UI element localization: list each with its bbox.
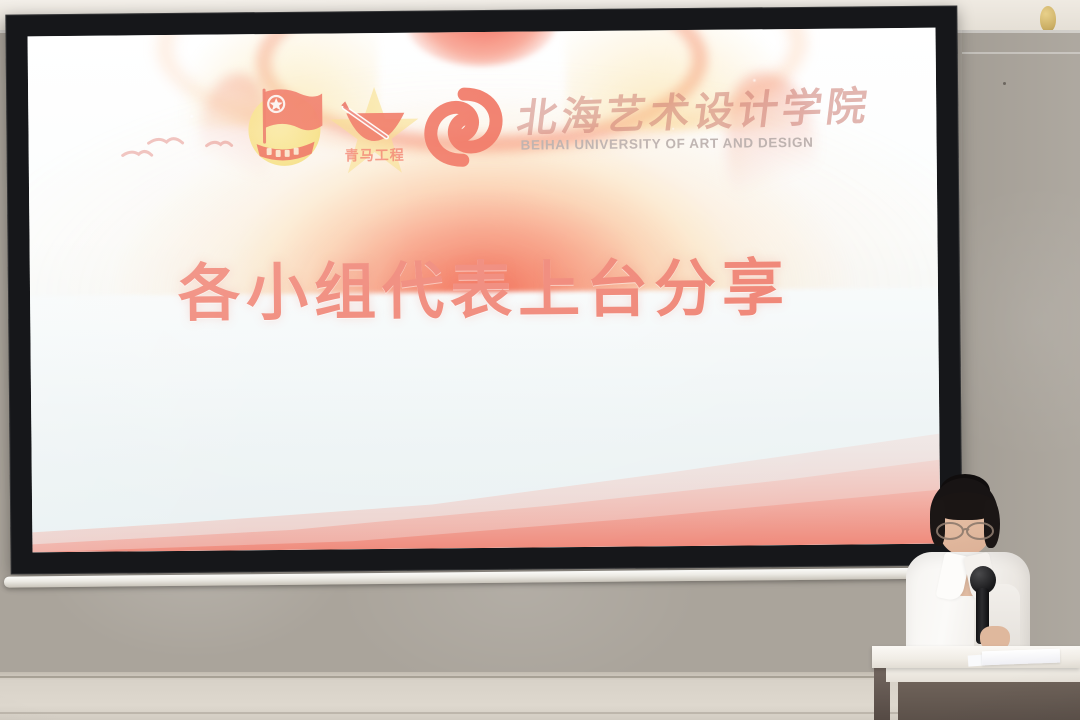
projector-screen-frame: 青马工程 北海艺术设计学院 BEIHAI UNIVERSITY OF ART A… [5, 5, 962, 574]
slide-title: 各小组代表上台分享 [30, 236, 939, 335]
photo-scene: 青马工程 北海艺术设计学院 BEIHAI UNIVERSITY OF ART A… [0, 0, 1080, 720]
university-name-block: 北海艺术设计学院 BEIHAI UNIVERSITY OF ART AND DE… [518, 78, 859, 173]
presentation-slide: 青马工程 北海艺术设计学院 BEIHAI UNIVERSITY OF ART A… [28, 28, 941, 553]
podium-front-edge [886, 666, 1080, 682]
qingma-project-label: 青马工程 [329, 145, 421, 166]
flying-birds-icon [120, 122, 260, 171]
mountain-silhouette-icon [31, 374, 941, 553]
university-spiral-logo-icon [420, 86, 507, 169]
podium-paper [982, 649, 1060, 666]
podium-body [898, 680, 1080, 720]
podium [872, 646, 1080, 720]
communist-youth-league-emblem-icon [242, 81, 329, 174]
right-wall-seam [962, 52, 1080, 54]
slide-logo-bar: 青马工程 北海艺术设计学院 BEIHAI UNIVERSITY OF ART A… [28, 70, 937, 183]
university-name-cn: 北海艺术设计学院 [514, 74, 862, 144]
university-name-en: BEIHAI UNIVERSITY OF ART AND DESIGN [521, 134, 861, 152]
wall-speck [1003, 82, 1006, 85]
screen-mount-knob-icon [1040, 6, 1056, 32]
glasses-icon [932, 520, 998, 547]
qingma-project-logo-icon: 青马工程 [328, 83, 421, 180]
